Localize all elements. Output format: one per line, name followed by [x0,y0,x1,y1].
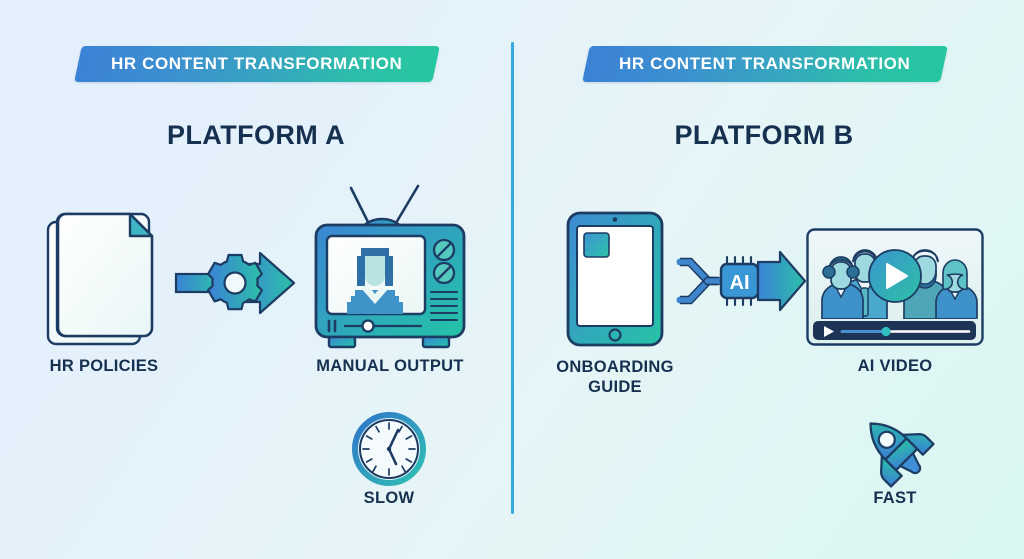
panel-divider [511,42,514,514]
platform-b-title: PLATFORM B [614,120,914,151]
comparison-infographic: HR CONTENT TRANSFORMATION HR CONTENT TRA… [0,0,1024,559]
rocket-icon [856,410,936,488]
caption-fast: FAST [820,488,970,508]
banner-platform-b: HR CONTENT TRANSFORMATION [582,46,948,82]
caption-onboarding-guide: ONBOARDING GUIDE [525,357,705,397]
caption-onboarding-guide-line1: ONBOARDING [525,357,705,377]
platform-a-title: PLATFORM A [106,120,406,151]
video-player-icon [806,228,984,346]
gear-arrow-icon [176,252,308,314]
caption-manual-output: MANUAL OUTPUT [290,356,490,376]
retro-tv-icon [305,178,475,350]
caption-ai-video: AI VIDEO [800,356,990,376]
caption-onboarding-guide-line2: GUIDE [525,377,705,397]
ai-chip-arrow-icon: AI [680,248,805,314]
caption-hr-policies: HR POLICIES [9,356,199,376]
banner-platform-a-label: HR CONTENT TRANSFORMATION [111,54,402,74]
banner-platform-b-label: HR CONTENT TRANSFORMATION [619,54,910,74]
document-stack-icon [44,200,174,355]
banner-platform-a: HR CONTENT TRANSFORMATION [74,46,440,82]
caption-slow: SLOW [314,488,464,508]
tablet-document-icon [566,211,664,347]
ai-chip-label: AI [730,272,750,294]
clock-icon [352,412,426,486]
